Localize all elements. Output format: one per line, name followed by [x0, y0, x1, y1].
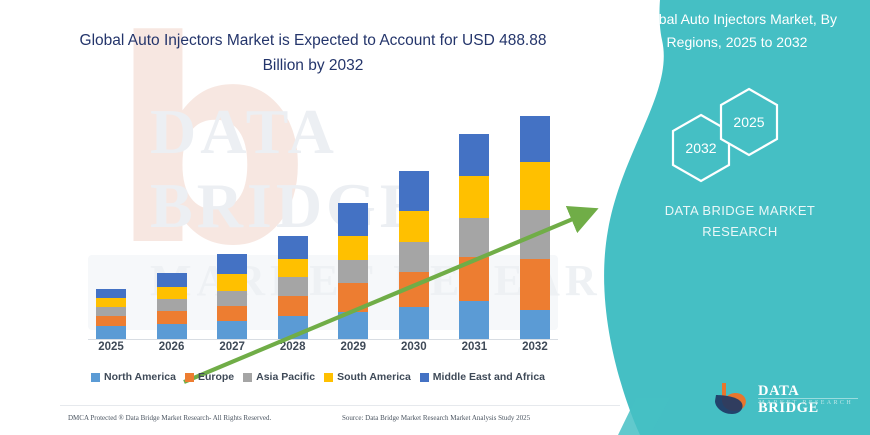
- chart-bar-segment: [338, 236, 368, 260]
- chart-bar-segment: [217, 306, 247, 321]
- chart-bar: [96, 289, 126, 339]
- chart-bar-segment: [520, 162, 550, 210]
- legend-item[interactable]: North America: [91, 371, 176, 383]
- chart-bar-segment: [217, 291, 247, 306]
- hexagon-2025: 2025: [718, 87, 780, 157]
- chart-bar: [459, 134, 489, 339]
- chart-bar-segment: [520, 116, 550, 162]
- chart-bar-segment: [96, 316, 126, 327]
- chart-bar-segment: [157, 324, 187, 339]
- legend-swatch-icon: [420, 373, 429, 382]
- chart-legend: North AmericaEuropeAsia PacificSouth Ame…: [78, 371, 558, 383]
- chart-bar-segment: [217, 321, 247, 339]
- legend-label: North America: [104, 371, 176, 383]
- footer-divider: [60, 405, 620, 406]
- chart-bar-segment: [399, 272, 429, 307]
- chart-bar-segment: [217, 274, 247, 291]
- chart-bar-segment: [338, 312, 368, 339]
- chart-x-label: 2025: [96, 341, 126, 353]
- chart-x-label: 2027: [217, 341, 247, 353]
- infographic-canvas: b DATA BRIDGE MARKET RESEARCH Global Aut…: [0, 0, 870, 435]
- chart-x-axis-labels: 20252026202720282029203020312032: [88, 341, 558, 353]
- footer: DMCA Protected ® Data Bridge Market Rese…: [0, 405, 636, 435]
- footer-dmca-text: DMCA Protected ® Data Bridge Market Rese…: [68, 414, 271, 422]
- chart-bar-segment: [459, 257, 489, 301]
- chart-bar-segment: [278, 316, 308, 340]
- data-bridge-logo: DATA BRIDGE MARKET RESEARCH: [712, 381, 862, 417]
- chart-bar: [157, 273, 187, 339]
- footer-source-text: Source: Data Bridge Market Research Mark…: [342, 414, 530, 422]
- chart-bar-segment: [399, 211, 429, 242]
- logo-subtitle: MARKET RESEARCH: [759, 400, 853, 406]
- chart-bar-segment: [278, 296, 308, 315]
- chart-bar: [278, 236, 308, 339]
- chart-bar-segment: [96, 289, 126, 299]
- hexagon-2025-label: 2025: [718, 114, 780, 130]
- chart-bar-segment: [96, 298, 126, 307]
- chart-bar-segment: [520, 210, 550, 259]
- chart-bar-segment: [278, 236, 308, 258]
- chart-bars: [88, 100, 558, 339]
- chart-bar-segment: [459, 218, 489, 256]
- chart-bar-segment: [157, 287, 187, 300]
- chart-x-label: 2026: [157, 341, 187, 353]
- chart-bar-segment: [459, 134, 489, 176]
- chart-bar-segment: [338, 203, 368, 236]
- legend-item[interactable]: Middle East and Africa: [420, 371, 545, 383]
- legend-label: Europe: [198, 371, 234, 383]
- chart-bar: [399, 171, 429, 339]
- chart-bar-segment: [520, 259, 550, 310]
- right-panel-title: Global Auto Injectors Market, By Regions…: [612, 8, 862, 54]
- chart-bar-segment: [278, 277, 308, 296]
- legend-swatch-icon: [91, 373, 100, 382]
- chart-x-label: 2028: [278, 341, 308, 353]
- chart-bar-segment: [217, 254, 247, 274]
- legend-swatch-icon: [324, 373, 333, 382]
- chart-bar-segment: [520, 310, 550, 339]
- legend-item[interactable]: Europe: [185, 371, 234, 383]
- chart-bar: [520, 116, 550, 339]
- chart-bar-segment: [399, 171, 429, 211]
- page-title: Global Auto Injectors Market is Expected…: [78, 28, 548, 78]
- logo-mark-icon: [712, 381, 756, 417]
- chart-x-label: 2031: [459, 341, 489, 353]
- chart-bar-segment: [157, 311, 187, 324]
- chart-bar-segment: [157, 299, 187, 311]
- chart-bar-segment: [338, 283, 368, 312]
- chart-baseline-axis: [88, 339, 558, 340]
- chart-bar-segment: [338, 260, 368, 284]
- chart-bar-segment: [399, 242, 429, 272]
- legend-swatch-icon: [243, 373, 252, 382]
- hexagon-pair: 2032 2025: [670, 95, 790, 175]
- right-panel-brand: DATA BRIDGE MARKET RESEARCH: [640, 200, 840, 242]
- legend-label: South America: [337, 371, 411, 383]
- legend-item[interactable]: South America: [324, 371, 411, 383]
- stacked-bar-chart: 20252026202720282029203020312032: [88, 100, 558, 340]
- chart-x-label: 2029: [338, 341, 368, 353]
- legend-label: Asia Pacific: [256, 371, 315, 383]
- chart-bar-segment: [96, 326, 126, 339]
- chart-bar-segment: [459, 301, 489, 339]
- chart-bar: [338, 203, 368, 339]
- chart-x-label: 2032: [520, 341, 550, 353]
- chart-bar-segment: [399, 307, 429, 339]
- legend-item[interactable]: Asia Pacific: [243, 371, 315, 383]
- legend-label: Middle East and Africa: [433, 371, 545, 383]
- chart-bar-segment: [157, 273, 187, 287]
- chart-bar: [217, 254, 247, 339]
- chart-bar-segment: [459, 176, 489, 219]
- chart-bar-segment: [278, 259, 308, 277]
- logo-divider: [758, 398, 858, 399]
- legend-swatch-icon: [185, 373, 194, 382]
- chart-bar-segment: [96, 307, 126, 316]
- chart-x-label: 2030: [399, 341, 429, 353]
